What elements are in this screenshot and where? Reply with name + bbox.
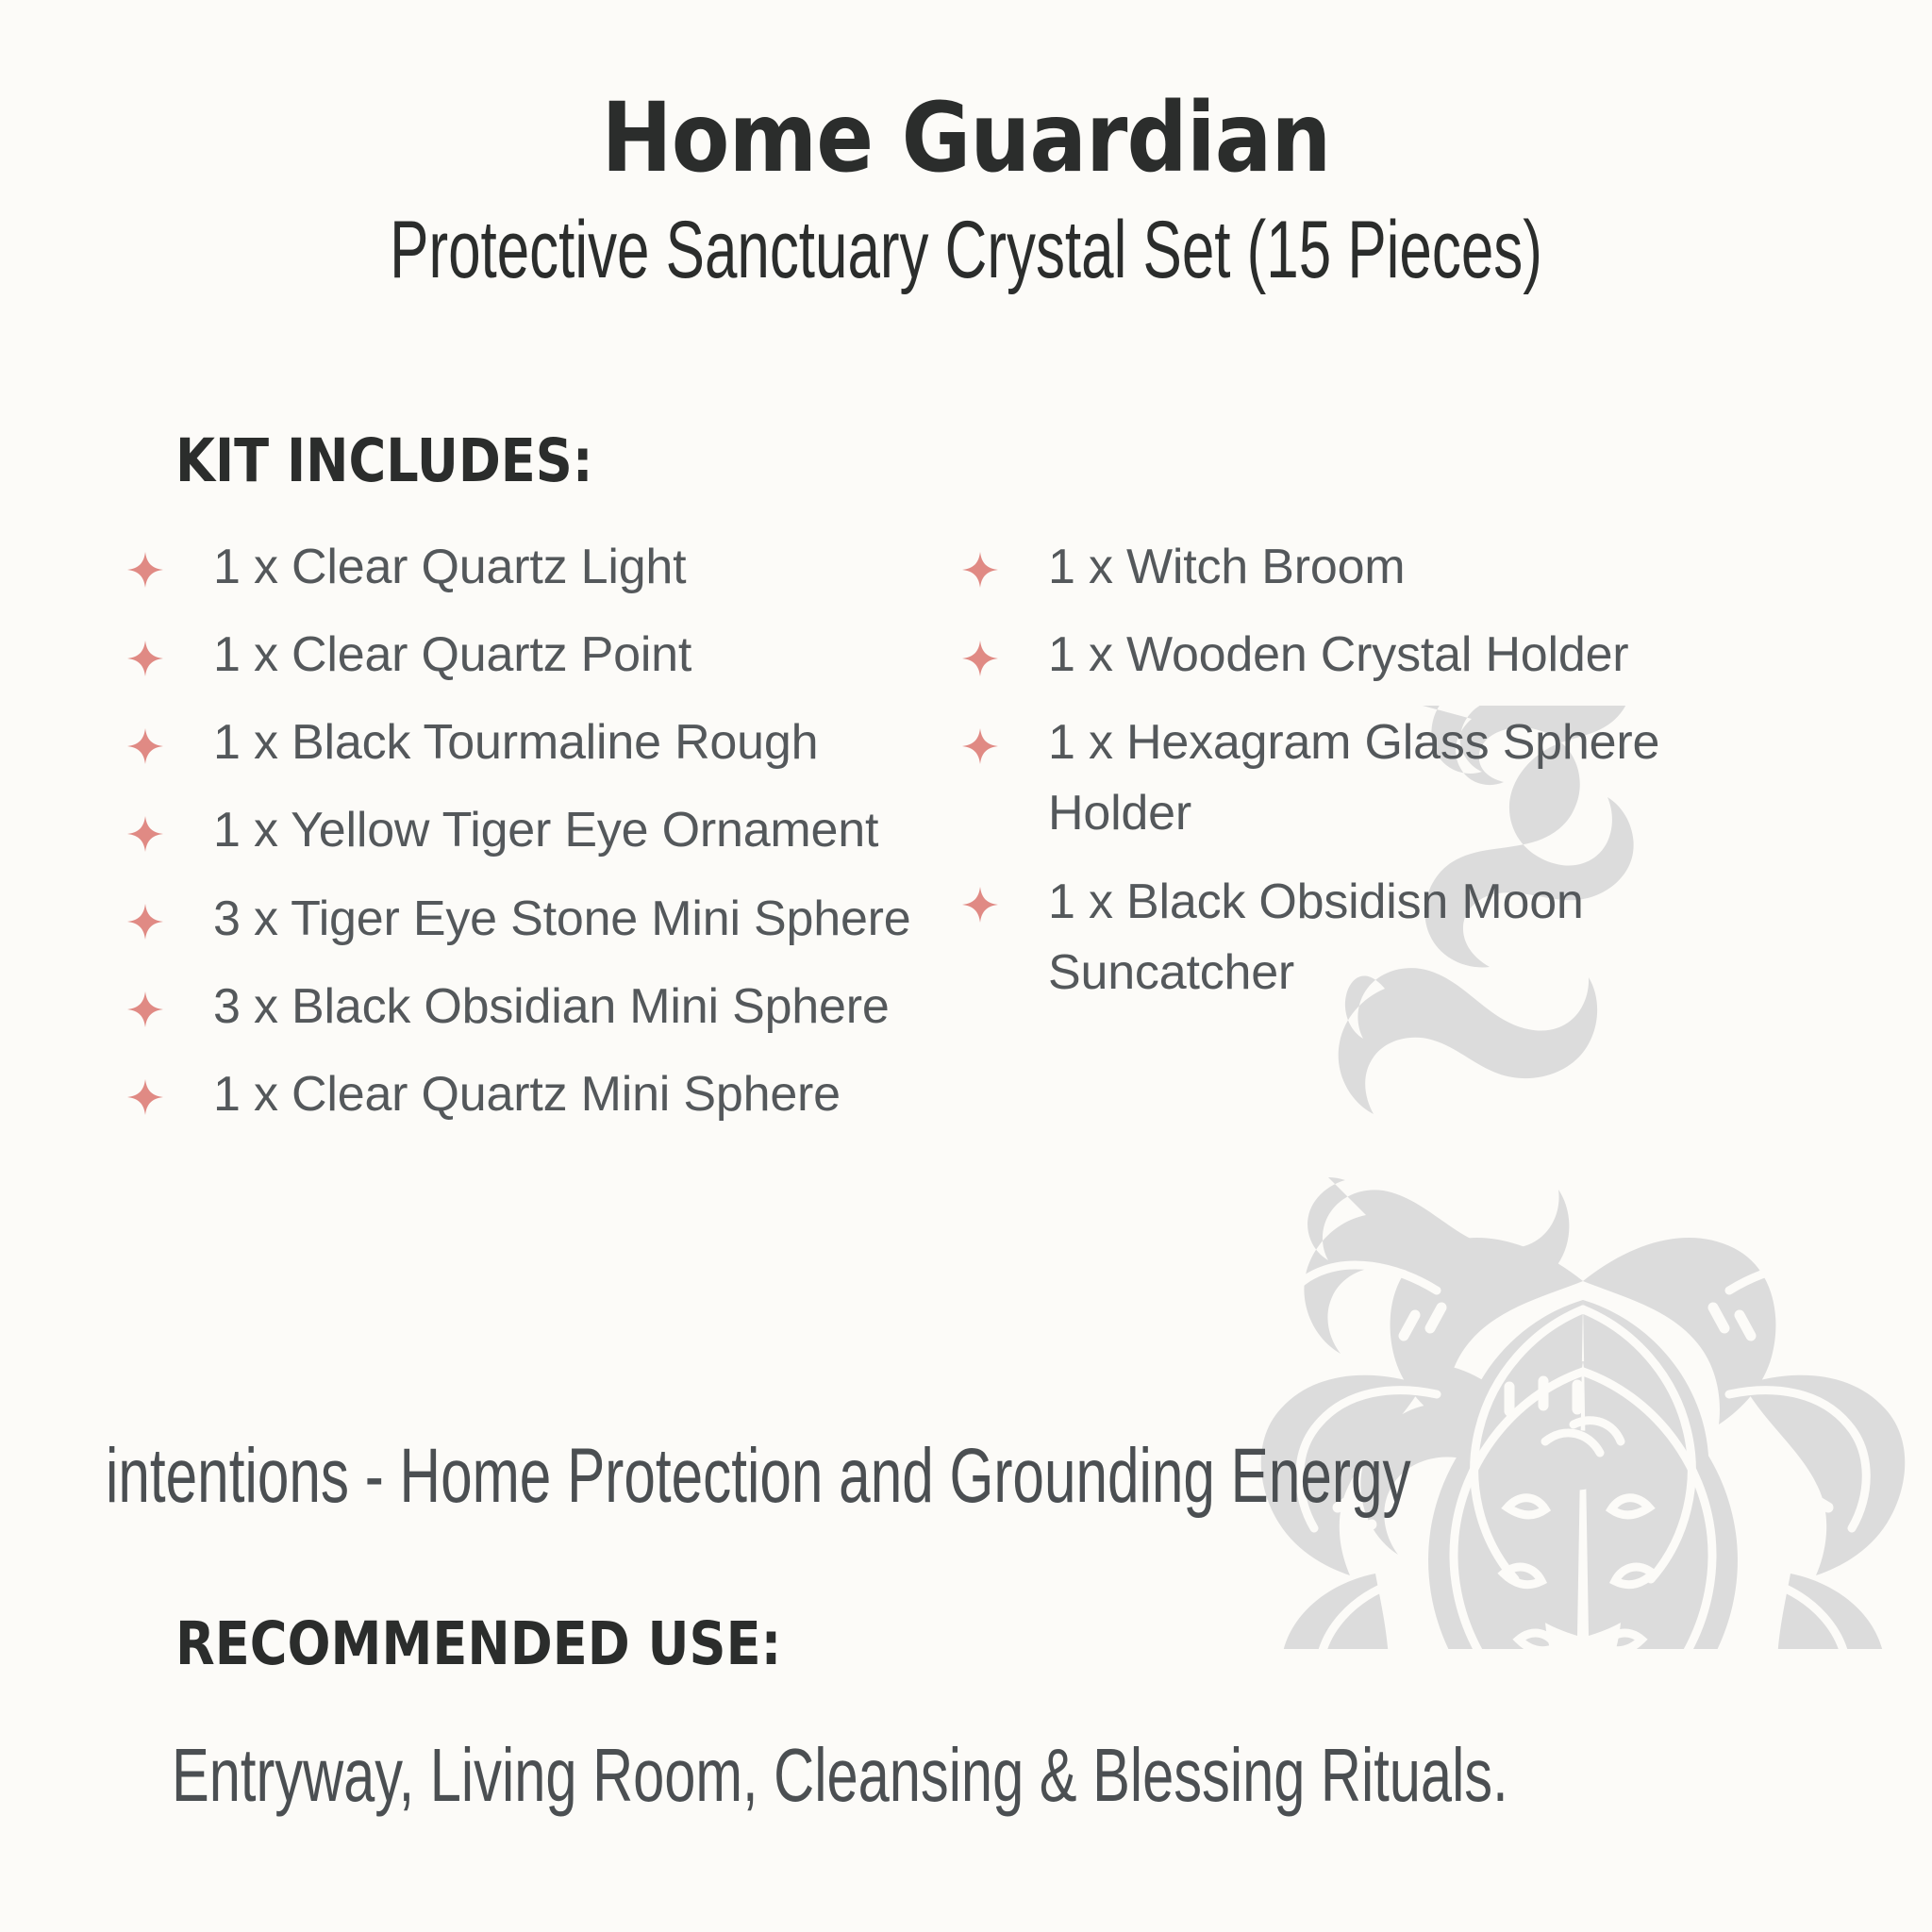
- sparkle-icon: [1005, 882, 1042, 924]
- list-item: 3 x Tiger Eye Stone Mini Sphere: [170, 884, 991, 955]
- sparkle-icon: [170, 1074, 208, 1116]
- sparkle-icon: [170, 987, 208, 1028]
- list-item-label: 1 x Wooden Crystal Holder: [1048, 627, 1628, 682]
- sparkle-icon: [170, 723, 208, 764]
- sparkle-icon: [170, 899, 208, 941]
- list-item: 1 x Black Tourmaline Rough: [170, 708, 991, 778]
- header: Home Guardian Protective Sanctuary Cryst…: [0, 0, 1932, 292]
- page-subtitle: Protective Sanctuary Crystal Set (15 Pie…: [271, 208, 1662, 292]
- list-item-label: 3 x Tiger Eye Stone Mini Sphere: [213, 891, 911, 946]
- list-item-label: 1 x Black Obsidisn Moon Suncatcher: [1048, 874, 1584, 1000]
- list-item: 1 x Hexagram Glass Sphere Holder: [1005, 708, 1811, 849]
- list-item: 1 x Wooden Crystal Holder: [1005, 620, 1811, 691]
- list-item-label: 1 x Clear Quartz Point: [213, 627, 691, 682]
- list-item-label: 1 x Yellow Tiger Eye Ornament: [213, 803, 878, 858]
- sparkle-icon: [170, 547, 208, 589]
- sparkle-icon: [1005, 635, 1042, 676]
- page-title: Home Guardian: [116, 91, 1816, 187]
- kit-includes-heading: KIT INCLUDES:: [175, 426, 592, 495]
- product-info-card: Home Guardian Protective Sanctuary Cryst…: [0, 0, 1932, 1932]
- sparkle-icon: [1005, 547, 1042, 589]
- list-item-label: 1 x Witch Broom: [1048, 540, 1405, 594]
- kit-column-right: 1 x Witch Broom 1 x Wooden Crystal Holde…: [991, 532, 1811, 1147]
- list-item: 1 x Clear Quartz Point: [170, 620, 991, 691]
- sparkle-icon: [170, 810, 208, 852]
- sparkle-icon: [1005, 723, 1042, 764]
- list-item-label: 1 x Clear Quartz Light: [213, 540, 686, 594]
- list-item-label: 3 x Black Obsidian Mini Sphere: [213, 979, 890, 1034]
- kit-column-left: 1 x Clear Quartz Light 1 x Clear Quartz …: [170, 532, 991, 1147]
- sparkle-icon: [170, 635, 208, 676]
- list-item-label: 1 x Black Tourmaline Rough: [213, 715, 818, 770]
- intentions-line: intentions - Home Protection and Groundi…: [106, 1434, 1411, 1519]
- list-item: 1 x Yellow Tiger Eye Ornament: [170, 795, 991, 866]
- list-item: 3 x Black Obsidian Mini Sphere: [170, 972, 991, 1042]
- recommended-use-heading: RECOMMENDED USE:: [175, 1609, 781, 1678]
- list-item-label: 1 x Hexagram Glass Sphere Holder: [1048, 715, 1659, 841]
- list-item: 1 x Clear Quartz Light: [170, 532, 991, 603]
- kit-includes-list: 1 x Clear Quartz Light 1 x Clear Quartz …: [170, 532, 1811, 1147]
- kit-includes-heading-wrap: KIT INCLUDES:: [175, 426, 661, 495]
- list-item: 1 x Clear Quartz Mini Sphere: [170, 1059, 991, 1130]
- list-item: 1 x Black Obsidisn Moon Suncatcher: [1005, 867, 1811, 1008]
- list-item: 1 x Witch Broom: [1005, 532, 1811, 603]
- list-item-label: 1 x Clear Quartz Mini Sphere: [213, 1067, 841, 1122]
- recommended-use-heading-wrap: RECOMMENDED USE:: [175, 1609, 880, 1678]
- recommended-use-text: Entryway, Living Room, Cleansing & Bless…: [172, 1734, 1508, 1817]
